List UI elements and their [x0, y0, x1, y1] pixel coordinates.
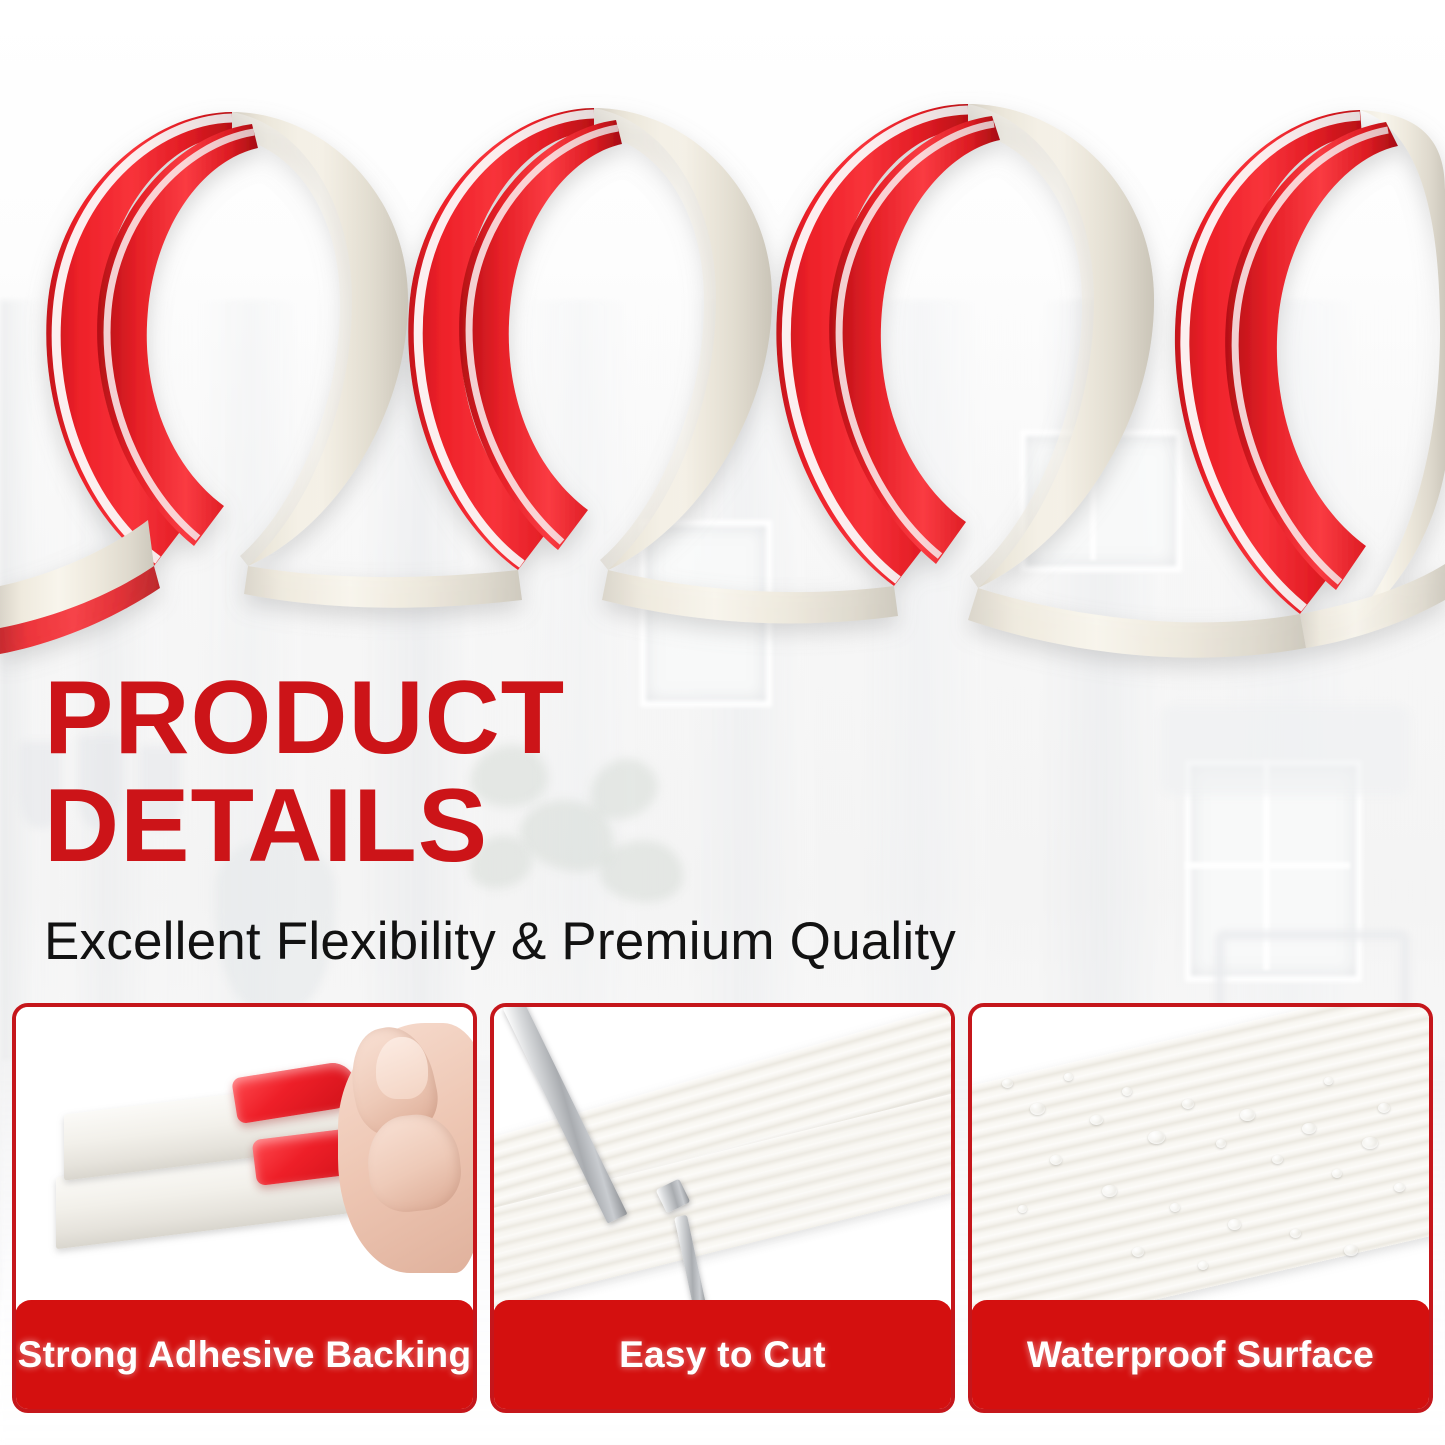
page-title: PRODUCT DETAILS [44, 664, 944, 880]
product-details-infographic: PRODUCT DETAILS Excellent Flexibility & … [0, 0, 1445, 1445]
feature-panel-list: Strong Adhesive Backing Easy to Cut [12, 1003, 1433, 1413]
feature-caption-text: Waterproof Surface [1027, 1334, 1374, 1376]
feature-panel-waterproof[interactable]: Waterproof Surface [968, 1003, 1433, 1413]
feature-panel-cut[interactable]: Easy to Cut [490, 1003, 955, 1413]
coil-loop-4 [968, 110, 1445, 658]
page-subtitle: Excellent Flexibility & Premium Quality [44, 910, 956, 974]
coil-loop-1 [0, 112, 408, 654]
water-droplet-icon [972, 1007, 1429, 1307]
feature-caption-text: Strong Adhesive Backing [18, 1334, 472, 1376]
hand-icon [16, 1007, 473, 1307]
scissors-icon [494, 1007, 951, 1307]
feature-caption-bar: Easy to Cut [493, 1300, 952, 1410]
page-title-line-1: PRODUCT [44, 664, 944, 772]
feature-panel-adhesive[interactable]: Strong Adhesive Backing [12, 1003, 477, 1413]
feature-caption-text: Easy to Cut [619, 1334, 826, 1376]
edge-banding-coil-illustration [0, 0, 1445, 760]
feature-caption-bar: Waterproof Surface [971, 1300, 1430, 1410]
feature-caption-bar: Strong Adhesive Backing [15, 1300, 474, 1410]
page-title-line-2: DETAILS [44, 772, 944, 880]
